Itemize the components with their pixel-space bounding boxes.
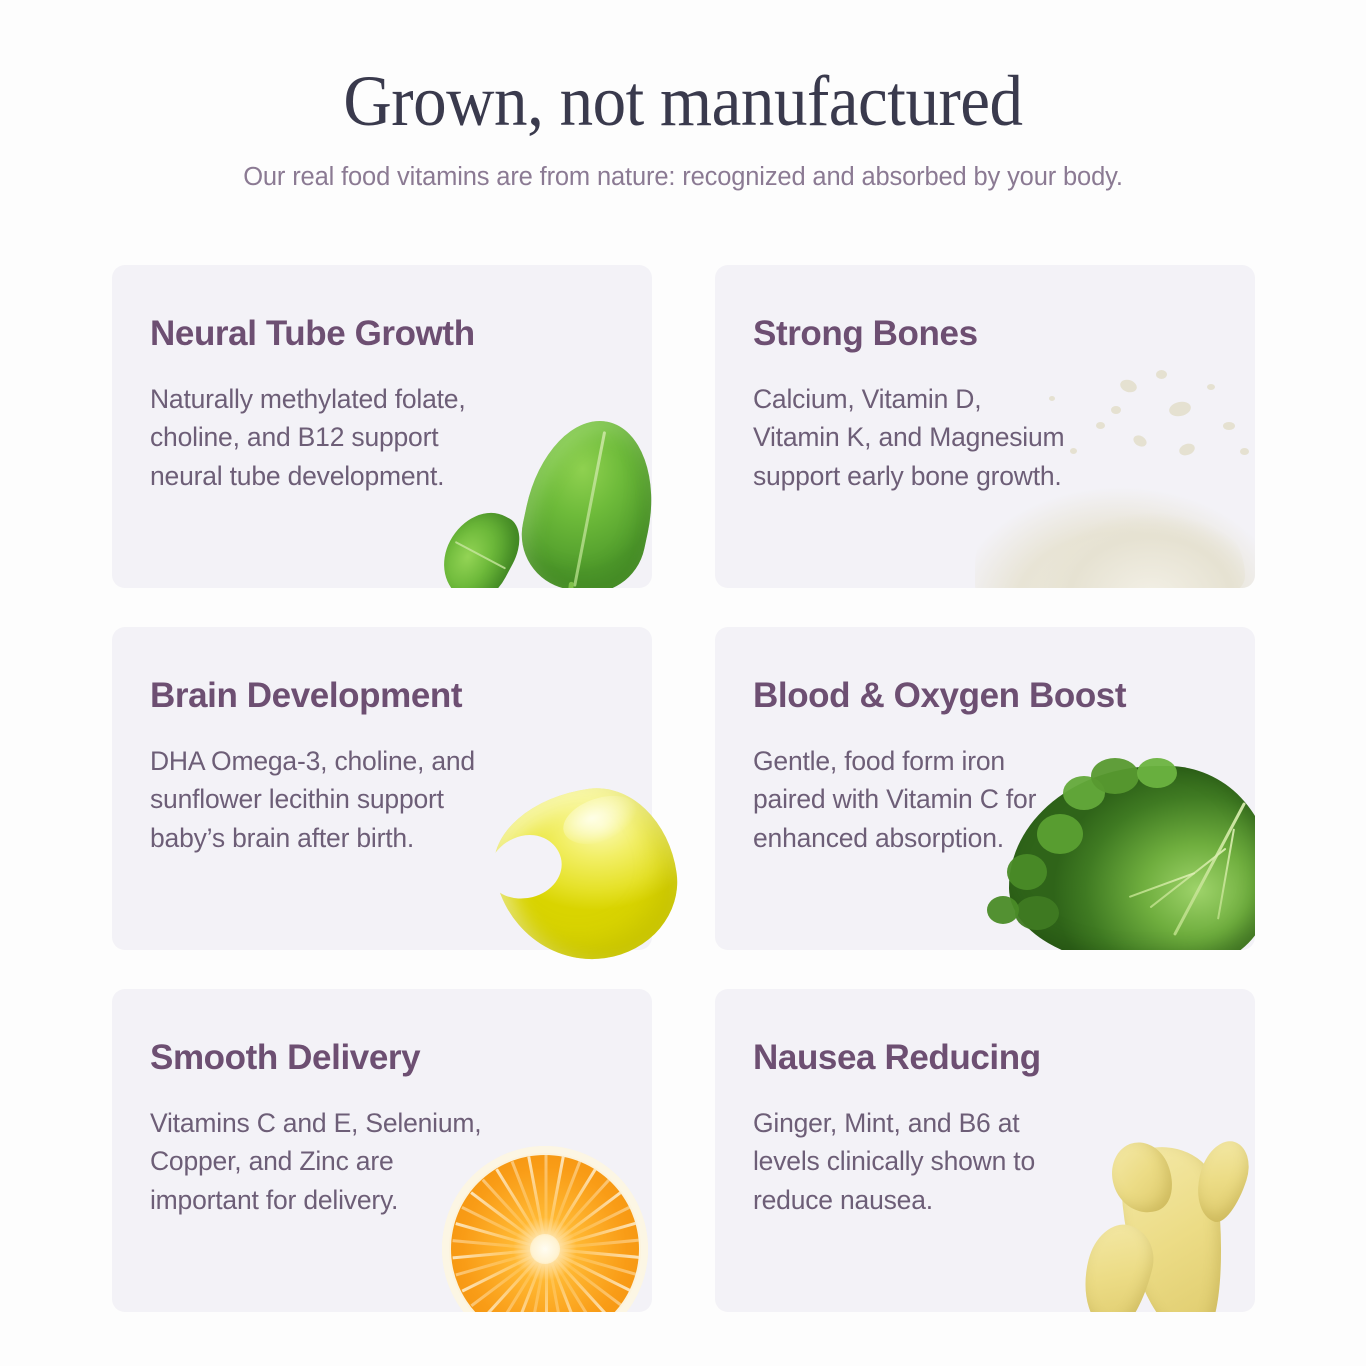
- orange-segment: [545, 1249, 548, 1312]
- orange-segment: [470, 1248, 547, 1307]
- kale-curl: [1015, 896, 1059, 930]
- kale-curl: [987, 896, 1019, 924]
- card-body: DHA Omega-3, choline, and sunflower leci…: [150, 742, 610, 858]
- orange-segment: [546, 1222, 637, 1250]
- benefit-card-smooth-delivery: Smooth Delivery Vitamins C and E, Seleni…: [112, 989, 652, 1312]
- orange-segment: [546, 1248, 631, 1292]
- orange-segment: [545, 1248, 622, 1307]
- orange-segment: [545, 1248, 610, 1312]
- powder-mound-front: [1035, 488, 1245, 588]
- benefit-card-brain-development: Brain Development DHA Omega-3, choline, …: [112, 627, 652, 950]
- orange-segment: [453, 1239, 547, 1250]
- card-body: Gentle, food form iron paired with Vitam…: [753, 742, 1213, 858]
- card-title: Brain Development: [150, 677, 652, 716]
- orange-segment: [546, 1248, 637, 1276]
- kale-curl: [1007, 854, 1047, 890]
- card-title: Neural Tube Growth: [150, 315, 652, 354]
- orange-segment: [545, 1249, 581, 1312]
- card-body: Vitamins C and E, Selenium, Copper, and …: [150, 1104, 610, 1220]
- orange-segment: [496, 1248, 548, 1312]
- kale-vein: [1129, 872, 1195, 898]
- orange-segment: [455, 1248, 546, 1276]
- orange-segment: [546, 1239, 639, 1250]
- benefit-card-nausea-reducing: Nausea Reducing Ginger, Mint, and B6 at …: [715, 989, 1255, 1312]
- benefit-cards-grid: Neural Tube Growth Naturally methylated …: [112, 265, 1255, 1312]
- orange-segment: [455, 1222, 546, 1250]
- orange-segment: [511, 1249, 547, 1312]
- card-body: Naturally methylated folate, choline, an…: [150, 380, 610, 496]
- spinach-leaf-small: [429, 499, 530, 588]
- card-title: Nausea Reducing: [753, 1039, 1255, 1078]
- benefit-card-neural-tube-growth: Neural Tube Growth Naturally methylated …: [112, 265, 652, 588]
- page-subtitle: Our real food vitamins are from nature: …: [0, 162, 1366, 194]
- orange-segment: [462, 1248, 547, 1292]
- card-body: Ginger, Mint, and B6 at levels clinicall…: [753, 1104, 1213, 1220]
- orange-segment: [545, 1248, 597, 1312]
- page-title: Grown, not manufactured: [48, 64, 1318, 140]
- card-title: Blood & Oxygen Boost: [753, 677, 1255, 716]
- orange-segment: [545, 1249, 565, 1312]
- orange-segment: [546, 1248, 639, 1259]
- card-body: Calcium, Vitamin D, Vitamin K, and Magne…: [753, 380, 1213, 496]
- orange-segment: [482, 1248, 547, 1312]
- card-title: Strong Bones: [753, 315, 1255, 354]
- ginger-knob: [1073, 1218, 1161, 1312]
- orange-segment: [453, 1248, 547, 1259]
- orange-segment: [528, 1249, 548, 1312]
- benefit-card-blood-oxygen-boost: Blood & Oxygen Boost Gentle, food form i…: [715, 627, 1255, 950]
- benefit-card-strong-bones: Strong Bones Calcium, Vitamin D, Vitamin…: [715, 265, 1255, 588]
- card-title: Smooth Delivery: [150, 1039, 652, 1078]
- page-header: Grown, not manufactured Our real food vi…: [0, 0, 1366, 193]
- benefits-page: Grown, not manufactured Our real food vi…: [0, 0, 1366, 1366]
- orange-core: [530, 1234, 560, 1264]
